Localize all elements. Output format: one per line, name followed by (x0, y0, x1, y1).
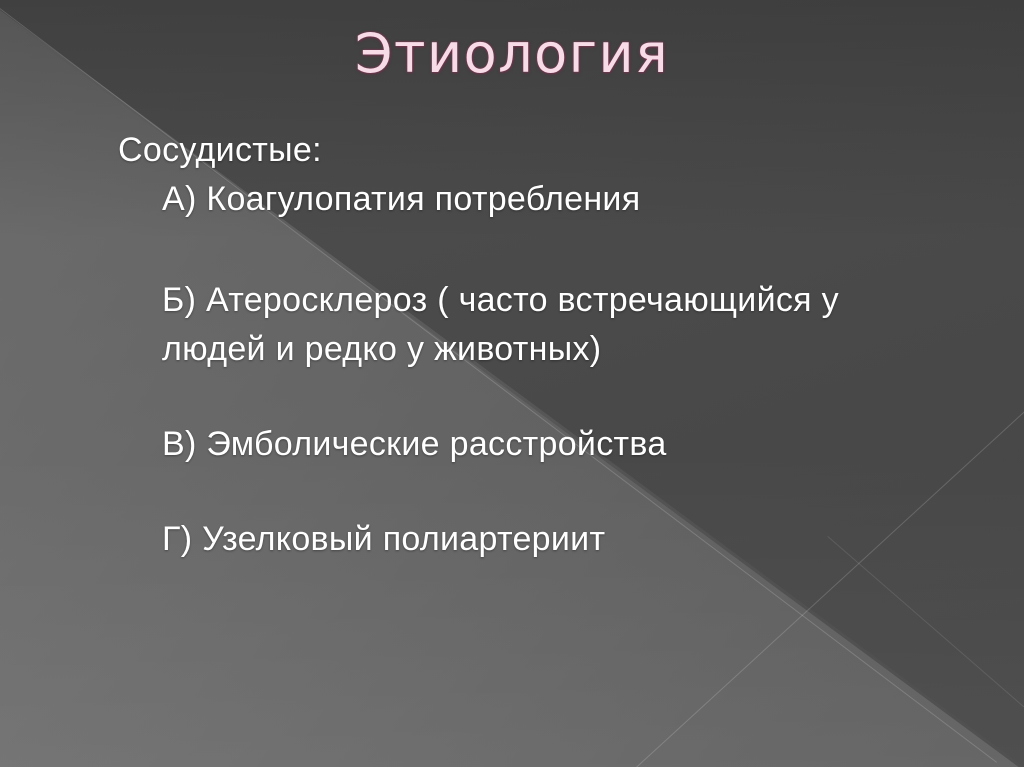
list-item-v: В) Эмболические расстройства (118, 420, 948, 469)
spacer-after-item-v (118, 469, 948, 515)
slide-title-container: Этиология (0, 22, 1024, 85)
presentation-slide: Этиология Сосудистые: А) Коагулопатия по… (0, 0, 1024, 767)
list-item-a: А) Коагулопатия потребления (118, 175, 948, 224)
list-item-b: Б) Атеросклероз ( часто встречающийся у … (118, 276, 948, 374)
page-title: Этиология (355, 22, 669, 85)
list-item-g: Г) Узелковый полиартериит (118, 515, 948, 564)
spacer-after-item-b (118, 374, 948, 420)
spacer-after-item-a (118, 224, 948, 276)
list-lead-label: Сосудистые: (118, 126, 948, 175)
slide-body: Сосудистые: А) Коагулопатия потребления … (118, 126, 948, 564)
